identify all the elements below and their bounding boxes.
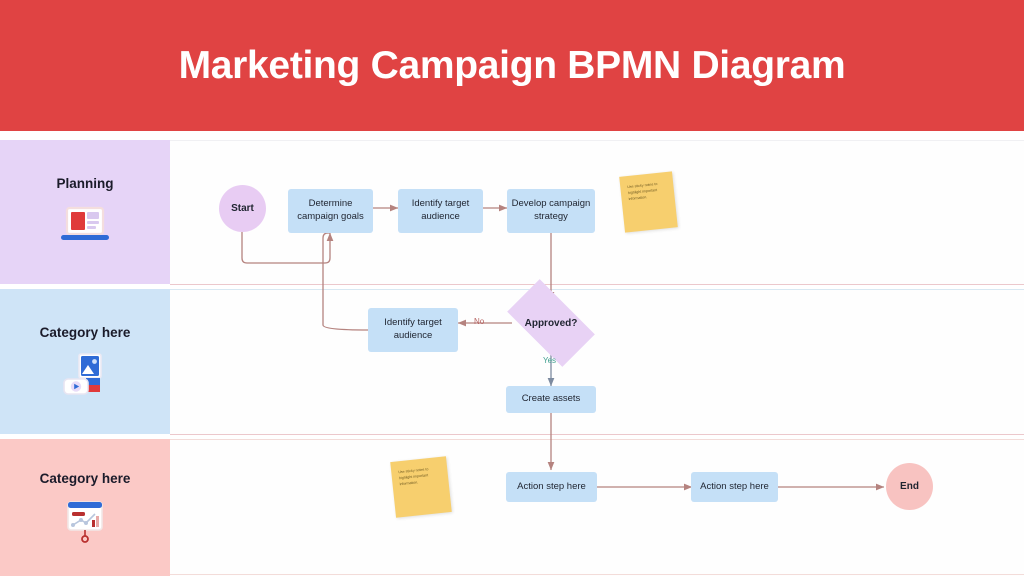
node-approved-gateway[interactable]: Approved? [512,300,590,346]
whiteboard-chart-icon [56,498,114,546]
lane-divider-top [170,140,1024,141]
node-determine-campaign-goals[interactable]: Determine campaign goals [288,189,373,233]
sticky-note-planning[interactable]: Use sticky notes to highlight important … [619,171,678,232]
node-develop-campaign-strategy[interactable]: Develop campaign strategy [507,189,595,233]
node-start-label: Start [231,203,254,214]
page-title: Marketing Campaign BPMN Diagram [0,0,1024,131]
lane-divider-bottom [170,574,1024,575]
node-identify-target-audience-2[interactable]: Identify target audience [368,308,458,352]
swimlane-category-3-label: Category here [40,469,131,490]
sticky-note-planning-text: Use sticky notes to highlight important … [627,180,668,202]
media-image-video-icon [56,352,114,400]
swimlane-category-3-header[interactable]: Category here [0,439,170,576]
swimlane-planning-header[interactable]: Planning [0,140,170,284]
node-identify-target-audience-1-label: Identify target audience [402,198,479,224]
lane-divider-2a [170,434,1024,435]
node-determine-campaign-goals-label: Determine campaign goals [292,198,369,224]
node-end[interactable]: End [886,463,933,510]
node-action-step-1[interactable]: Action step here [506,472,597,502]
node-create-assets-label: Create assets [522,393,581,406]
lane-divider-1b [170,289,1024,290]
node-start[interactable]: Start [219,185,266,232]
swimlane-category-3-body [170,439,1024,576]
node-end-label: End [900,481,919,492]
node-action-step-2-label: Action step here [700,481,769,494]
node-action-step-1-label: Action step here [517,481,586,494]
lane-divider-2b [170,439,1024,440]
lane-divider-1a [170,284,1024,285]
sticky-note-bottom-text: Use sticky notes to highlight important … [398,465,442,488]
node-approved-gateway-label: Approved? [525,318,578,329]
sticky-note-bottom[interactable]: Use sticky notes to highlight important … [390,456,452,518]
node-action-step-2[interactable]: Action step here [691,472,778,502]
swimlane-category-2-label: Category here [40,323,131,344]
swimlane-planning-label: Planning [57,174,114,195]
node-identify-target-audience-2-label: Identify target audience [372,317,454,343]
bpmn-diagram-canvas: Marketing Campaign BPMN Diagram Planning… [0,0,1024,576]
node-identify-target-audience-1[interactable]: Identify target audience [398,189,483,233]
swimlane-category-2-header[interactable]: Category here [0,289,170,434]
node-create-assets[interactable]: Create assets [506,386,596,413]
connector-label-no: No [474,317,484,326]
connector-label-yes: Yes [543,356,556,365]
swimlane-category-2-body [170,289,1024,434]
node-develop-campaign-strategy-label: Develop campaign strategy [511,198,591,224]
swimlane-category-3: Category here [0,439,1024,576]
laptop-presentation-icon [56,202,114,250]
